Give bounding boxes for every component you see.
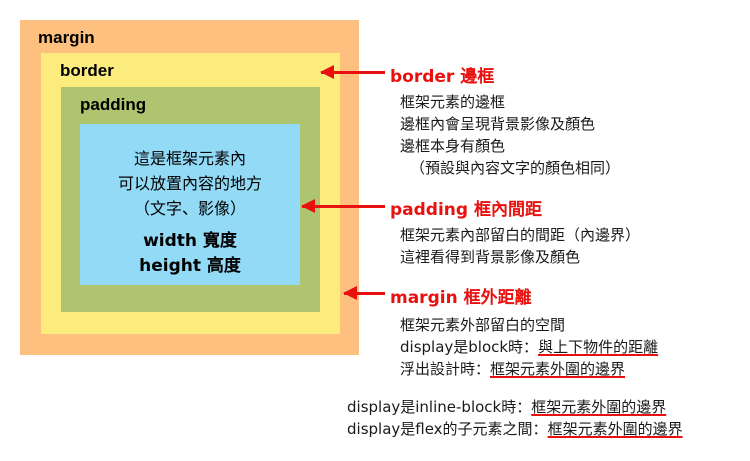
annotation-padding-line-2: 這裡看得到背景影像及顏色 — [400, 246, 640, 268]
annotation-padding-line-1: 框架元素內部留白的間距（內邊界） — [400, 224, 640, 246]
annotation-border-title: border 邊框 — [390, 62, 620, 87]
annotation-border-line-2: 邊框內會呈現背景影像及顏色 — [400, 113, 620, 135]
rule-float-prefix: 浮出設計時： — [400, 360, 490, 378]
annotation-margin-title: margin 框外距離 — [390, 283, 658, 308]
content-line-1: 這是框架元素內 — [80, 146, 300, 171]
annotation-margin-rule-block: display是block時：與上下物件的距離 — [400, 336, 658, 358]
arrow-left-icon-margin — [344, 292, 385, 295]
rule-float-underlined: 框架元素外圍的邊界 — [490, 360, 625, 378]
note-inline-block-prefix: display是inline-block時： — [347, 398, 531, 416]
annotation-padding-title: padding 框內間距 — [390, 195, 640, 220]
content-line-3: （文字、影像） — [80, 196, 300, 221]
rule-block-prefix: display是block時： — [400, 338, 538, 356]
content-description: 這是框架元素內 可以放置內容的地方 （文字、影像） — [80, 146, 300, 221]
annotation-padding-body: 框架元素內部留白的間距（內邊界） 這裡看得到背景影像及顏色 — [400, 224, 640, 268]
note-flex-prefix: display是flex的子元素之間： — [347, 420, 548, 438]
annotation-border: border 邊框 框架元素的邊框 邊框內會呈現背景影像及顏色 邊框本身有顏色 … — [390, 62, 620, 179]
bottom-notes: display是inline-block時：框架元素外圍的邊界 display是… — [347, 396, 683, 440]
padding-label: padding — [80, 95, 146, 115]
arrow-left-icon-border — [321, 71, 385, 74]
arrow-left-icon-padding — [302, 205, 385, 208]
content-width-label: width 寬度 — [80, 229, 300, 254]
content-line-2: 可以放置內容的地方 — [80, 171, 300, 196]
annotation-border-body: 框架元素的邊框 邊框內會呈現背景影像及顏色 邊框本身有顏色 （預設與內容文字的顏… — [400, 91, 620, 179]
note-flex: display是flex的子元素之間：框架元素外圍的邊界 — [347, 418, 683, 440]
annotation-border-line-3: 邊框本身有顏色 — [400, 135, 620, 157]
rule-block-underlined: 與上下物件的距離 — [538, 338, 658, 356]
content-height-label: height 高度 — [80, 254, 300, 279]
content-layer: 這是框架元素內 可以放置內容的地方 （文字、影像） width 寬度 heigh… — [80, 124, 300, 285]
annotation-margin: margin 框外距離 框架元素外部留白的空間 display是block時：與… — [390, 283, 658, 380]
note-inline-block: display是inline-block時：框架元素外圍的邊界 — [347, 396, 683, 418]
annotation-border-line-1: 框架元素的邊框 — [400, 91, 620, 113]
annotation-margin-line-1: 框架元素外部留白的空間 — [400, 314, 658, 336]
annotation-padding: padding 框內間距 框架元素內部留白的間距（內邊界） 這裡看得到背景影像及… — [390, 195, 640, 268]
note-inline-block-underlined: 框架元素外圍的邊界 — [531, 398, 666, 416]
content-dimensions: width 寬度 height 高度 — [80, 229, 300, 279]
border-label: border — [60, 61, 114, 81]
margin-label: margin — [38, 28, 95, 48]
box-model-diagram: margin border padding 這是框架元素內 可以放置內容的地方 … — [20, 20, 359, 355]
annotation-margin-rule-float: 浮出設計時：框架元素外圍的邊界 — [400, 358, 658, 380]
annotation-margin-body: 框架元素外部留白的空間 display是block時：與上下物件的距離 浮出設計… — [400, 314, 658, 380]
note-flex-underlined: 框架元素外圍的邊界 — [548, 420, 683, 438]
annotation-border-line-4: （預設與內容文字的顏色相同） — [400, 157, 620, 179]
